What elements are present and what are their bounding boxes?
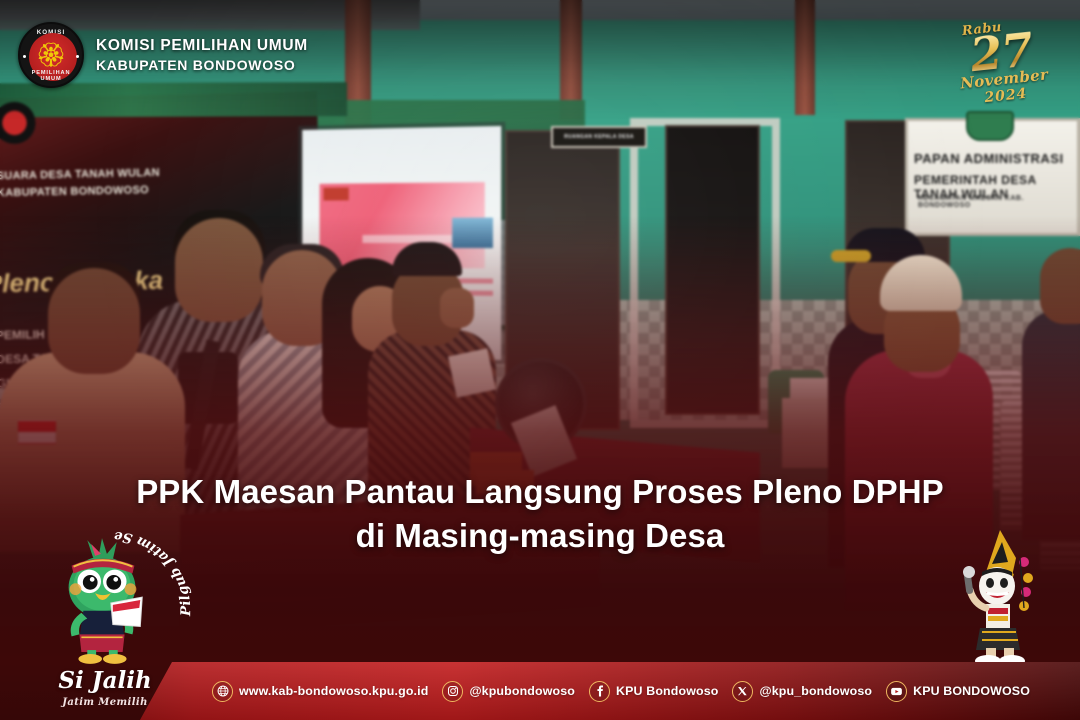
- footer-item-instagram[interactable]: @kpubondowoso: [442, 681, 575, 702]
- date-day-number: 27: [968, 29, 1034, 76]
- footer-social-links: www.kab-bondowoso.kpu.go.id@kpubondowoso…: [0, 662, 1080, 720]
- youtube-icon[interactable]: [886, 681, 907, 702]
- footer-item-globe[interactable]: www.kab-bondowoso.kpu.go.id: [212, 681, 428, 702]
- footer-item-label: KPU BONDOWOSO: [913, 684, 1030, 698]
- date-year: 2024: [984, 86, 1028, 106]
- footer-item-label: @kpu_bondowoso: [759, 684, 872, 698]
- header-text: KOMISI PEMILIHAN UMUM KABUPATEN BONDOWOS…: [96, 36, 308, 74]
- footer-item-label: KPU Bondowoso: [616, 684, 718, 698]
- logo-dot-icon: [23, 55, 26, 58]
- kpu-logo-icon: KOMISI 🏵 PEMILIHAN UMUM: [18, 22, 84, 88]
- globe-icon[interactable]: [212, 681, 233, 702]
- facebook-icon[interactable]: [589, 681, 610, 702]
- footer-item-label: www.kab-bondowoso.kpu.go.id: [239, 684, 428, 698]
- org-name-line1: KOMISI PEMILIHAN UMUM: [96, 36, 308, 55]
- footer-item-youtube[interactable]: KPU BONDOWOSO: [886, 681, 1030, 702]
- poster-canvas: DESA TANAH WULAN KABUPATEN BONDOWOSO SUA…: [0, 0, 1080, 720]
- org-name-line2: KABUPATEN BONDOWOSO: [96, 56, 308, 74]
- logo-ring-bottom-text: PEMILIHAN UMUM: [20, 70, 82, 82]
- footer-item-facebook[interactable]: KPU Bondowoso: [589, 681, 718, 702]
- garuda-eagle-icon: 🏵: [36, 44, 66, 68]
- topeng-character-mascot: [942, 528, 1062, 668]
- date-badge: Rabu 27 November 2024: [943, 15, 1062, 122]
- logo-dot-icon: [76, 55, 79, 58]
- footer-item-x-twitter[interactable]: @kpu_bondowoso: [732, 681, 872, 702]
- footer-item-label: @kpubondowoso: [469, 684, 575, 698]
- headline-line-2: di Masing-masing Desa: [60, 514, 1020, 558]
- headline-line-1: PPK Maesan Pantau Langsung Proses Pleno …: [60, 470, 1020, 514]
- header: KOMISI 🏵 PEMILIHAN UMUM KOMISI PEMILIHAN…: [18, 22, 308, 88]
- instagram-icon[interactable]: [442, 681, 463, 702]
- x-twitter-icon[interactable]: [732, 681, 753, 702]
- parrot-mascot-icon: [48, 536, 156, 664]
